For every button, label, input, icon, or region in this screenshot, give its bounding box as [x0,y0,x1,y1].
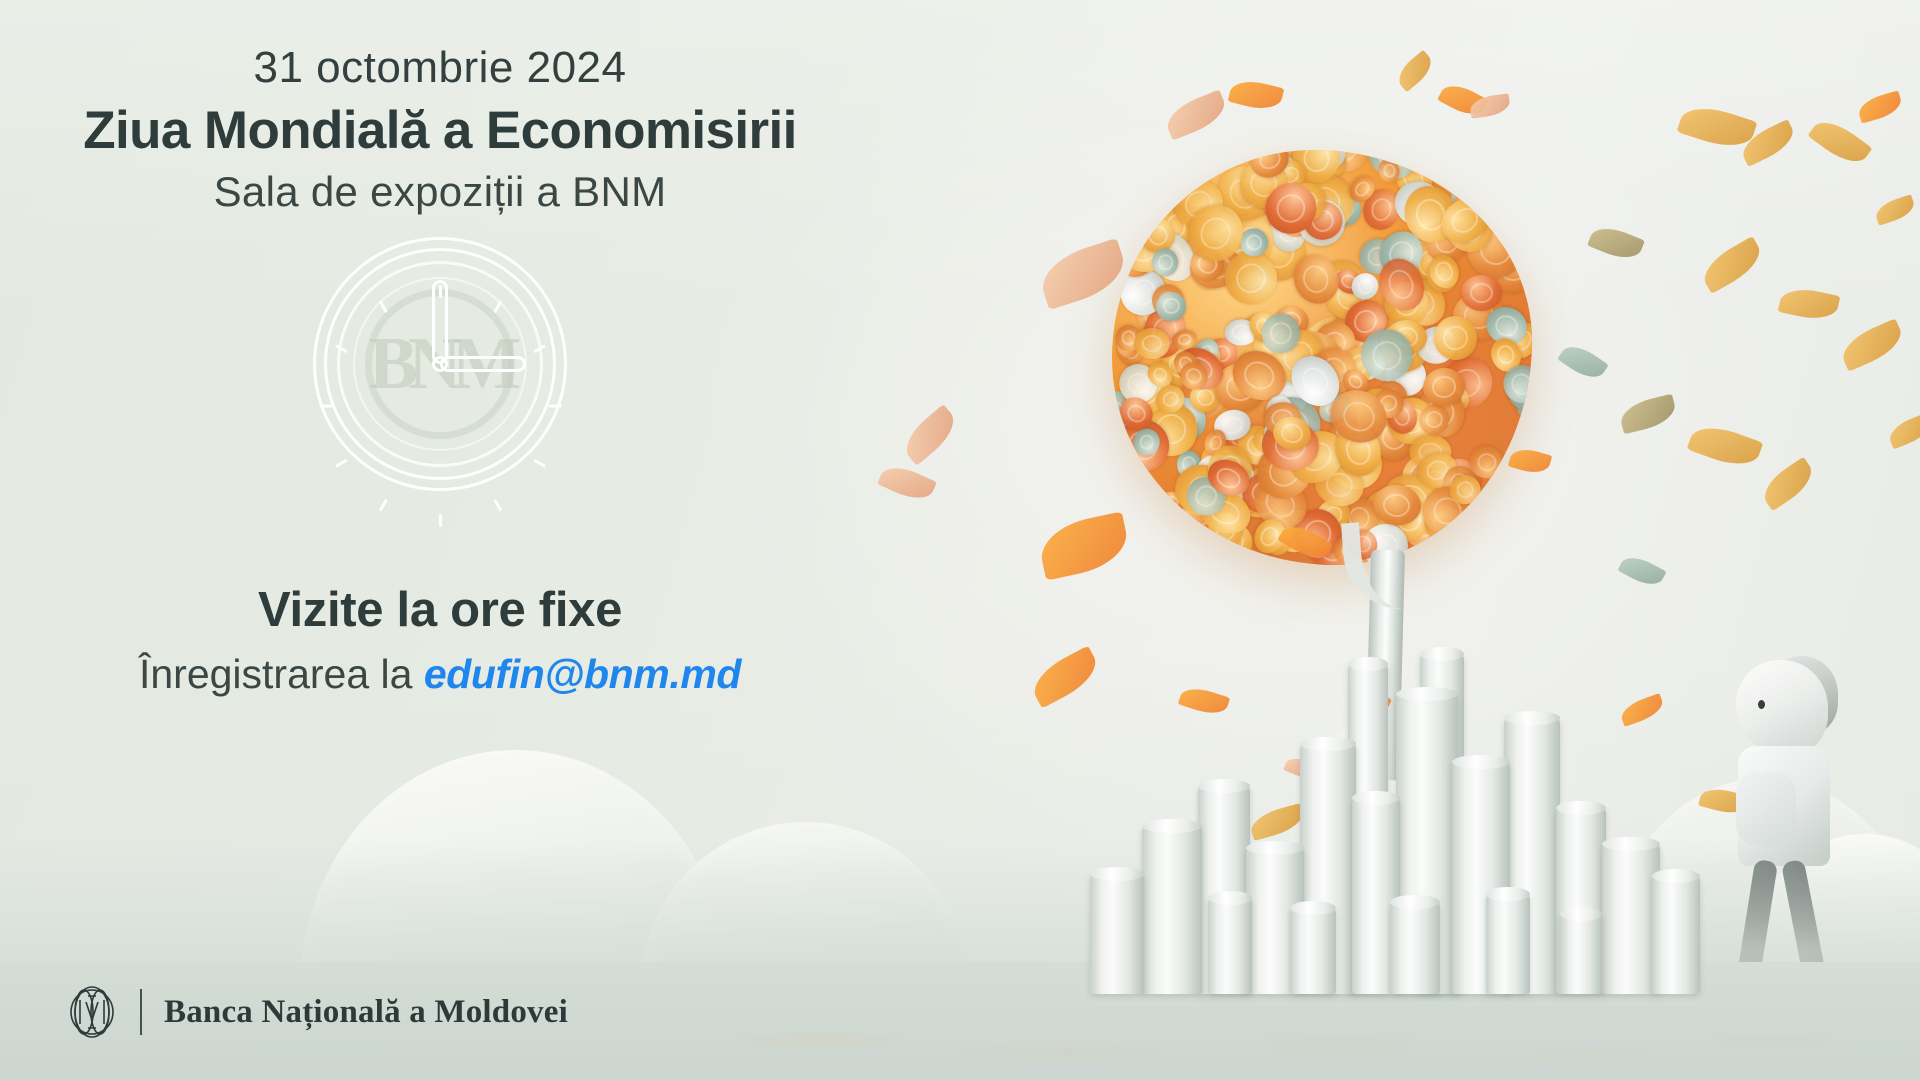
coin [1260,516,1294,556]
coin [1197,434,1253,498]
coin [1235,465,1291,521]
coin [1425,258,1460,294]
coin [1286,247,1346,310]
boy-head [1736,660,1828,756]
coin [1202,426,1230,458]
falling-leaf [1698,784,1750,818]
coin [1211,406,1255,445]
coin [1286,164,1364,243]
coin [1207,515,1259,565]
boy-shoe [1796,970,1836,985]
coin [1193,484,1257,541]
coin-stack [1246,848,1304,994]
coin-stack [1420,654,1464,994]
coin [1213,361,1269,415]
coin [1266,207,1311,256]
coin-stack [1142,826,1202,994]
coin [1157,343,1200,390]
falling-leaf [1697,236,1767,294]
falling-leaf [1737,119,1799,167]
coin [1323,271,1377,324]
coin [1112,382,1144,443]
coin [1422,486,1475,538]
coin-stack [1090,874,1144,994]
boy-shoe [1734,970,1774,985]
coin [1279,420,1354,494]
coin [1383,489,1411,515]
coin [1243,150,1289,176]
coin [1396,229,1445,277]
coin [1234,421,1283,469]
coin [1235,332,1298,395]
coin [1297,195,1349,246]
coin [1206,444,1253,493]
coin [1239,227,1270,258]
coin [1463,216,1530,283]
coin [1186,340,1223,376]
hill-shape [1600,778,1920,988]
coin [1113,263,1171,322]
coin [1261,400,1303,437]
coin [1112,409,1180,482]
coin [1449,183,1481,219]
coin-stacks-group [1090,654,1710,994]
falling-leaf [1557,339,1609,385]
coin [1183,459,1248,523]
coin [1189,447,1241,499]
coin-stack [1352,798,1400,994]
coin [1143,357,1178,392]
event-date: 31 octombrie 2024 [0,42,880,94]
coin [1246,432,1324,510]
clock-minute-hand [440,356,526,372]
coin [1338,343,1379,389]
coin [1378,321,1430,373]
falling-leaf [1508,445,1553,477]
coin [1310,150,1373,176]
coin [1420,366,1467,409]
coin [1248,513,1291,558]
coin [1206,156,1282,232]
coin [1385,318,1428,356]
coin [1503,365,1532,414]
falling-leaf [1587,221,1645,265]
falling-leaf [1469,93,1511,118]
coin [1115,324,1143,353]
coin [1201,246,1234,282]
tree-branch [1341,517,1443,613]
coin [1299,515,1364,565]
coin [1433,190,1498,253]
coin [1275,322,1353,399]
coin [1313,388,1354,428]
coin [1271,156,1310,193]
coin [1215,242,1288,315]
coin [1330,532,1374,565]
boy-eye [1758,700,1765,709]
coin [1192,184,1256,248]
coin [1428,311,1481,365]
coin [1168,339,1230,397]
coin [1164,170,1232,237]
coin [1254,386,1332,464]
floor-shading [0,840,1920,1080]
coin [1184,241,1231,288]
poster-canvas: BNM 31 octombrie 2024 Ziua Mondială a Ec… [0,0,1920,1080]
coin [1461,274,1503,311]
cta-title: Vizite la ore fixe [0,582,880,638]
coin [1499,317,1532,364]
coin [1280,175,1336,231]
falling-leaf [1248,803,1307,841]
clock-tick [533,459,546,468]
coin [1379,390,1442,453]
coin [1186,379,1225,416]
coin-stack [1560,914,1602,994]
coin [1390,270,1454,335]
coin [1244,469,1316,539]
coin [1379,480,1423,525]
coin [1352,233,1401,281]
coin [1169,346,1204,381]
falling-leaf [1026,646,1104,709]
coin-stack [1208,898,1252,994]
coin [1282,347,1349,416]
falling-leaf [1283,753,1327,785]
coin-stack [1198,786,1250,994]
coin [1170,364,1235,430]
clock-tick [334,459,347,468]
coin [1158,204,1195,248]
coin [1220,416,1258,458]
coin [1373,377,1411,419]
clock-hour-hand [432,280,448,364]
coin [1134,212,1182,260]
coin [1361,150,1422,186]
coin [1372,251,1432,317]
coin [1201,453,1254,502]
tree-trunk [1365,550,1405,781]
coin [1197,487,1230,520]
coin [1403,235,1457,292]
falling-leaf [897,404,962,466]
coin [1371,483,1423,529]
boy-hair [1762,656,1838,736]
coin [1413,236,1445,268]
footer-divider [140,989,142,1035]
coin [1302,340,1365,404]
falling-leaf [1036,511,1133,580]
coin [1357,386,1398,426]
falling-leaf [1873,194,1917,225]
coin [1345,171,1381,207]
coin-stack [1290,908,1336,994]
coin [1248,150,1308,206]
coin [1329,417,1358,446]
coin [1311,459,1369,512]
boy-figure [1700,660,1880,990]
coin [1175,356,1214,395]
coin [1395,448,1445,500]
coin [1113,425,1151,463]
coin [1366,410,1421,466]
coin [1255,173,1325,243]
falling-leaf [1837,318,1908,371]
coin [1204,448,1260,503]
registration-email[interactable]: edufin@bnm.md [424,651,741,697]
coin [1198,453,1257,514]
coin [1151,381,1189,418]
coin [1134,327,1171,359]
registration-label: Înregistrarea la [139,651,424,697]
coin [1296,194,1347,241]
footer-brand: Banca Națională a Moldovei [66,982,568,1042]
falling-leaf [1348,682,1392,716]
coin [1451,289,1508,342]
coin [1309,492,1357,540]
coin [1378,467,1445,529]
coin [1115,358,1180,424]
coin-stack [1396,694,1458,994]
coin [1113,392,1158,436]
coin [1388,154,1439,203]
coin [1399,450,1472,523]
coin [1261,319,1335,394]
clock-tick [378,499,387,512]
coin [1250,425,1288,458]
coin [1228,456,1300,528]
falling-leaf [1885,413,1920,450]
registration-line: Înregistrarea la edufin@bnm.md [0,650,880,699]
coin [1427,450,1491,513]
coin [1306,315,1363,373]
coin [1158,489,1188,515]
coin [1441,200,1499,258]
coin [1465,441,1508,483]
coin-stack [1602,844,1660,994]
coin [1133,404,1185,457]
coin [1389,309,1419,333]
coin [1480,301,1532,351]
coin [1380,389,1450,456]
page-title: Ziua Mondială a Economisirii [0,100,880,161]
falling-leaf [1757,457,1819,512]
clock-icon: BNM [313,237,567,491]
falling-leaf [1677,99,1758,154]
event-location: Sala de expoziții a BNM [0,167,880,217]
coin [1312,150,1351,183]
coin [1164,392,1212,444]
coin [1178,183,1215,217]
coin [1337,495,1383,542]
coin-stack [1390,902,1440,994]
coin [1170,459,1238,523]
clock-tick [493,499,502,512]
falling-leaf [1035,238,1132,310]
coin [1138,302,1190,362]
coin [1441,382,1473,416]
coin [1413,323,1460,368]
coin [1285,435,1315,465]
coin-stack [1348,664,1388,994]
coin [1191,219,1235,260]
coin [1117,362,1159,405]
cta-block: Vizite la ore fixe Înregistrarea la eduf… [0,582,880,700]
coin [1345,527,1380,562]
falling-leaf [1617,394,1678,435]
coin [1411,446,1462,495]
coin [1379,489,1439,549]
coin [1187,244,1245,293]
coin [1188,333,1223,370]
coin [1356,518,1414,565]
coin [1331,265,1366,299]
falling-leaf [1178,683,1230,719]
coin [1349,388,1404,445]
coin [1287,150,1349,177]
falling-leaf [1228,76,1285,114]
coin [1496,359,1532,410]
coin [1412,216,1448,251]
bank-name: Banca Națională a Moldovei [164,994,568,1031]
coin [1238,310,1273,344]
coin [1290,150,1342,185]
clock-tick [439,514,442,527]
coin [1383,394,1422,437]
coin-stack [1556,808,1606,994]
coin [1118,331,1146,367]
coin [1317,302,1383,374]
coin [1154,290,1188,323]
coin [1202,507,1248,553]
coin [1359,185,1404,234]
coin [1355,323,1420,388]
coin [1224,318,1258,346]
coin [1267,373,1311,418]
coin [1418,213,1476,270]
coin [1423,197,1465,239]
coin-tree-canopy [1112,150,1532,565]
coin [1371,223,1431,284]
coin [1378,347,1433,403]
coin [1272,200,1315,244]
coin [1284,438,1328,475]
coin [1187,239,1234,293]
falling-leaf [1162,89,1231,140]
coin [1486,334,1527,377]
hill-shape [300,750,730,990]
coin [1287,352,1328,393]
coin [1132,427,1161,457]
falling-leaf [1618,693,1666,727]
coin-stack [1452,762,1510,994]
coin [1382,279,1432,329]
coin [1339,528,1399,565]
coin [1238,213,1317,292]
coin [1257,407,1305,455]
coin [1180,196,1252,270]
coin [1221,238,1263,281]
coin [1260,514,1301,552]
coin [1243,306,1286,349]
coin [1344,333,1397,388]
coin [1288,503,1347,563]
coin [1377,157,1402,184]
coin [1322,187,1367,231]
coin [1176,450,1200,478]
coin [1112,219,1174,278]
coin [1116,331,1140,358]
trunk-flare [1330,730,1450,800]
coin [1259,416,1322,474]
coin [1113,230,1159,280]
coin [1170,328,1198,352]
coin [1412,381,1470,442]
boy-arm [1736,772,1796,846]
coin [1138,395,1204,463]
coin [1318,427,1391,498]
falling-leaf [1856,90,1904,123]
falling-leaf [1437,79,1489,122]
falling-leaf [1617,551,1666,591]
coin [1148,279,1189,320]
coin [1244,150,1295,184]
coin [1417,498,1469,550]
coin [1484,225,1531,269]
scattered-coins [640,984,1920,1080]
coin [1264,347,1313,398]
coin [1424,250,1464,292]
coin [1271,301,1312,339]
coin-stack [1504,718,1560,994]
coin-stack [1300,744,1356,994]
coin [1330,420,1388,482]
coin [1221,209,1279,272]
coin-stack [1486,894,1530,994]
coin [1322,381,1396,452]
falling-leaf [1393,50,1438,93]
coin [1250,319,1297,366]
falling-leaf [1687,419,1764,473]
coin [1265,502,1324,560]
hill-shape [1740,834,1920,984]
coin [1336,292,1395,351]
coin [1224,342,1295,410]
falling-leaf [877,460,937,506]
coin [1448,181,1500,229]
coin [1184,191,1255,261]
coin [1205,337,1239,370]
coin [1261,391,1297,427]
bnm-monogram-logo [66,982,118,1042]
coin [1370,385,1407,422]
coin [1230,150,1297,217]
coin [1309,150,1345,164]
coin [1129,290,1183,344]
falling-leaf [1778,284,1841,323]
coin [1414,399,1455,440]
coin [1442,465,1477,501]
coin [1487,243,1532,294]
boy-torso [1738,746,1830,866]
coin [1389,175,1451,233]
mini-coin-stack [1628,910,1680,962]
coin [1165,480,1232,548]
coin [1140,223,1203,289]
falling-leaf [1277,519,1332,565]
coin [1245,160,1310,225]
coin [1295,309,1368,379]
